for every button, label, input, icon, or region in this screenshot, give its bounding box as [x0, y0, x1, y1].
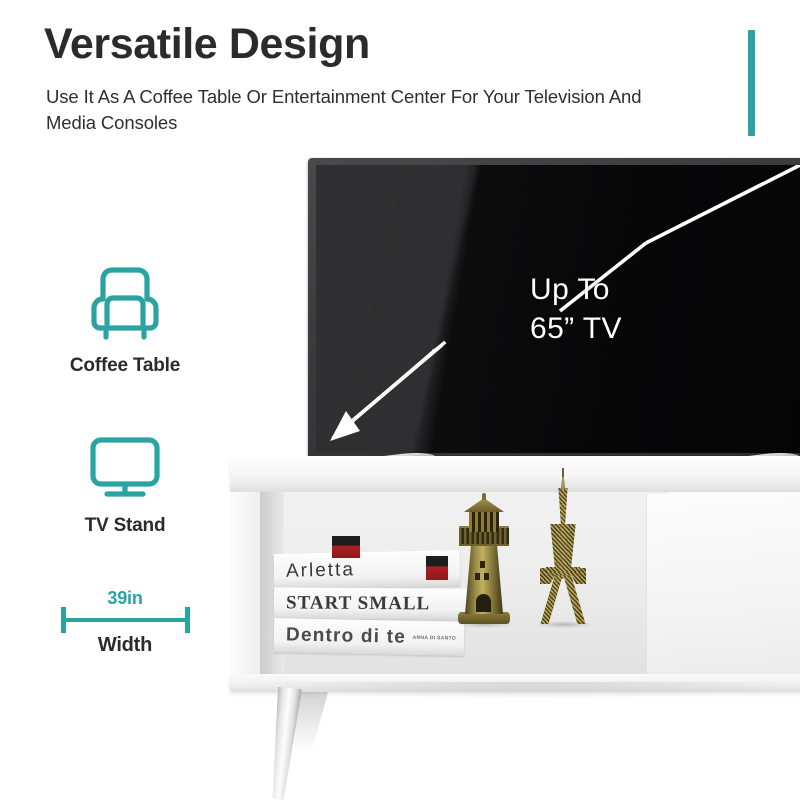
- right-cabinet-door[interactable]: [646, 494, 800, 680]
- lighthouse-roof: [464, 498, 504, 512]
- book-stack: Arletta START SMALL Dentro di te ANNA DI…: [274, 552, 474, 672]
- feature-label: TV Stand: [0, 515, 250, 537]
- tv-overlay-line-2: 65” TV: [530, 309, 622, 348]
- lighthouse-figurine: [456, 494, 512, 624]
- product-marketing-banner: Versatile Design Use It As A Coffee Tabl…: [0, 0, 800, 800]
- eiffel-antenna: [562, 468, 564, 477]
- book-title: Arletta: [274, 559, 355, 583]
- floor-shadow: [248, 682, 800, 698]
- television: Up To 65” TV: [308, 158, 800, 463]
- dimension-value: 39in: [45, 588, 205, 609]
- tv-overlay-text: Up To 65” TV: [530, 270, 622, 348]
- book-title: Dentro di te: [274, 624, 406, 649]
- dimension-cap-right: [185, 607, 190, 633]
- eiffel-mid-section: [548, 524, 578, 570]
- armchair-icon: [0, 262, 250, 345]
- lighthouse-window: [475, 573, 480, 580]
- white-tv-stand: Arletta START SMALL Dentro di te ANNA DI…: [228, 456, 800, 796]
- tv-overlay-line-1: Up To: [530, 270, 622, 309]
- dimension-label: Width: [45, 634, 205, 657]
- feature-tv-stand: TV Stand: [0, 434, 250, 537]
- book-spine-label: [332, 536, 360, 558]
- lighthouse-door: [476, 594, 491, 612]
- feature-coffee-table: Coffee Table: [0, 262, 250, 377]
- tv-monitor-icon: [0, 434, 250, 505]
- lighthouse-lamp-room: [469, 510, 499, 532]
- lighthouse-finial: [482, 493, 486, 500]
- width-dimension-icon: 39in Width: [45, 588, 205, 660]
- book-item: Dentro di te ANNA DI SANTO: [274, 618, 465, 656]
- book-subtitle: ANNA DI SANTO: [413, 635, 464, 642]
- dimension-line: [63, 618, 187, 622]
- feature-width-dimension: 39in Width: [0, 588, 250, 660]
- product-photo: Up To 65” TV: [228, 140, 800, 800]
- lighthouse-window: [484, 573, 489, 580]
- feature-label: Coffee Table: [0, 355, 250, 377]
- lighthouse-window: [480, 561, 485, 568]
- eiffel-tower-figurine: [530, 466, 596, 624]
- accent-bar: [748, 30, 755, 136]
- book-title: START SMALL: [274, 592, 430, 615]
- page-title: Versatile Design: [44, 20, 370, 68]
- stand-side-panel: [230, 492, 260, 676]
- page-subtitle: Use It As A Coffee Table Or Entertainmen…: [46, 84, 686, 137]
- eiffel-tip: [561, 476, 565, 490]
- eiffel-upper-section: [556, 488, 570, 526]
- book-item: START SMALL: [274, 587, 470, 619]
- book-spine-label: [426, 556, 448, 580]
